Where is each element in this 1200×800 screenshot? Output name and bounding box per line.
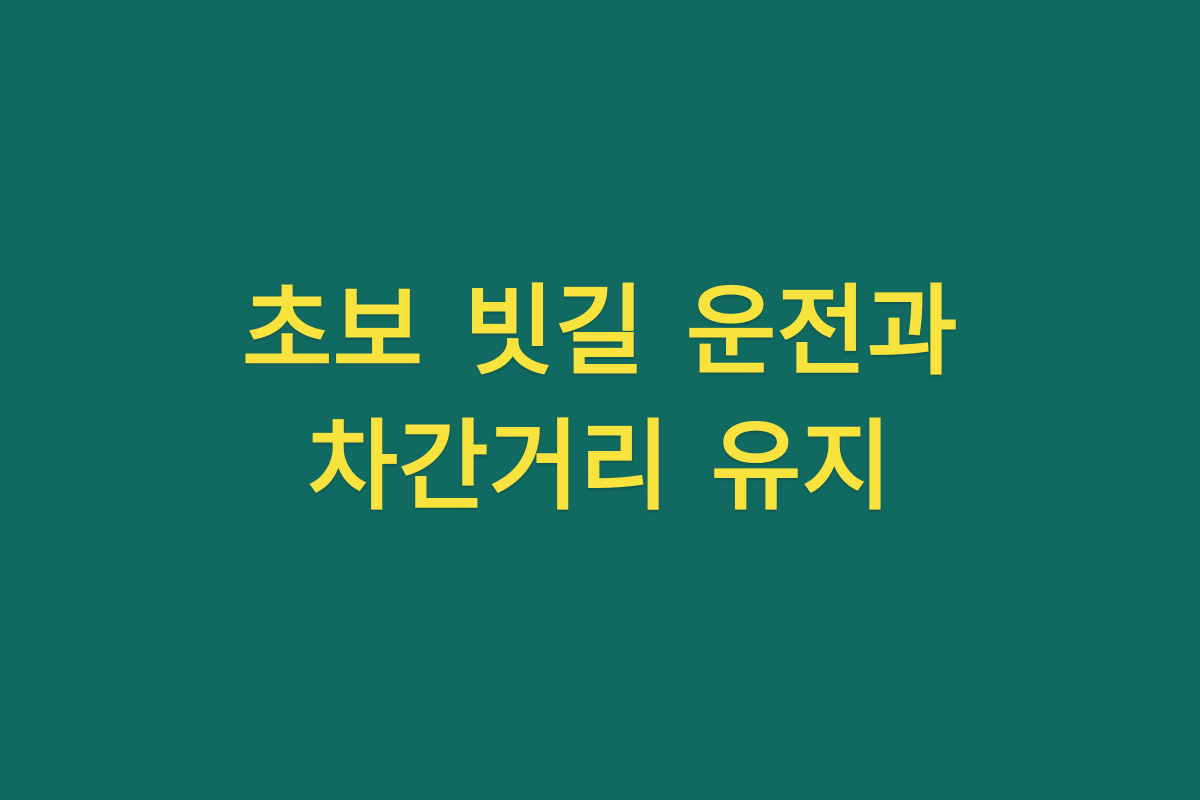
headline-text: 초보 빗길 운전과 차간거리 유지 <box>80 265 1120 535</box>
banner-canvas: 초보 빗길 운전과 차간거리 유지 <box>0 0 1200 800</box>
headline-block: 초보 빗길 운전과 차간거리 유지 <box>80 265 1120 535</box>
